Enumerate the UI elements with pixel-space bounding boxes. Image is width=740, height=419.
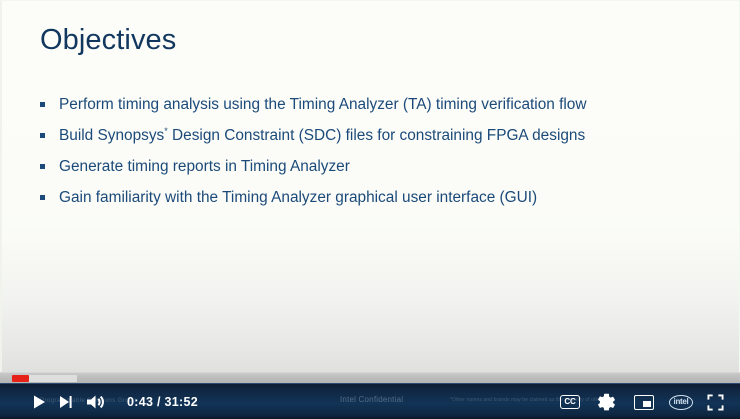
list-item: Gain familiarity with the Timing Analyze… bbox=[40, 189, 711, 207]
watermark-intel-confidential: Intel Confidential bbox=[340, 395, 403, 404]
list-item: Generate timing reports in Timing Analyz… bbox=[40, 158, 711, 176]
fullscreen-button[interactable] bbox=[704, 384, 726, 419]
miniplayer-icon bbox=[634, 395, 654, 410]
video-control-bar: Programmable Solutions Group Intel Confi… bbox=[0, 383, 740, 419]
next-track-icon bbox=[58, 394, 74, 410]
list-item: Perform timing analysis using the Timing… bbox=[40, 96, 711, 114]
list-item: Build Synopsys* Design Constraint (SDC) … bbox=[40, 127, 711, 145]
play-button[interactable] bbox=[28, 384, 50, 419]
list-item-text: Gain familiarity with the Timing Analyze… bbox=[59, 189, 537, 206]
video-progress-bar[interactable] bbox=[0, 372, 740, 383]
next-video-button[interactable] bbox=[56, 384, 76, 419]
time-display: 0:43 / 31:52 bbox=[127, 384, 198, 419]
play-icon bbox=[31, 394, 47, 410]
bullet-square-icon bbox=[40, 164, 45, 169]
bullet-square-icon bbox=[40, 133, 45, 138]
fullscreen-icon bbox=[707, 394, 724, 411]
bullet-square-icon bbox=[40, 102, 45, 107]
objectives-bullet-list: Perform timing analysis using the Timing… bbox=[40, 96, 711, 207]
video-player-frame: Objectives Perform timing analysis using… bbox=[0, 0, 740, 419]
volume-icon bbox=[86, 394, 106, 410]
gear-icon bbox=[597, 393, 616, 412]
theater-mode-button[interactable]: intel bbox=[667, 384, 695, 419]
progress-played bbox=[12, 375, 29, 382]
settings-button[interactable] bbox=[594, 384, 618, 419]
bullet-square-icon bbox=[40, 195, 45, 200]
intel-logo-icon: intel bbox=[669, 395, 693, 410]
time-current-total: 0:43 / 31:52 bbox=[127, 395, 198, 409]
list-item-text: Build Synopsys bbox=[59, 127, 164, 144]
volume-button[interactable] bbox=[84, 384, 108, 419]
cc-icon: CC bbox=[560, 395, 580, 409]
closed-captions-button[interactable]: CC bbox=[557, 384, 583, 419]
list-item-text: Generate timing reports in Timing Analyz… bbox=[59, 158, 350, 175]
list-item-text-cont: Design Constraint (SDC) files for constr… bbox=[168, 127, 585, 144]
page-title: Objectives bbox=[40, 24, 176, 57]
list-item-text: Perform timing analysis using the Timing… bbox=[59, 96, 586, 113]
slide-surface[interactable]: Objectives Perform timing analysis using… bbox=[0, 0, 740, 383]
miniplayer-button[interactable] bbox=[631, 384, 657, 419]
